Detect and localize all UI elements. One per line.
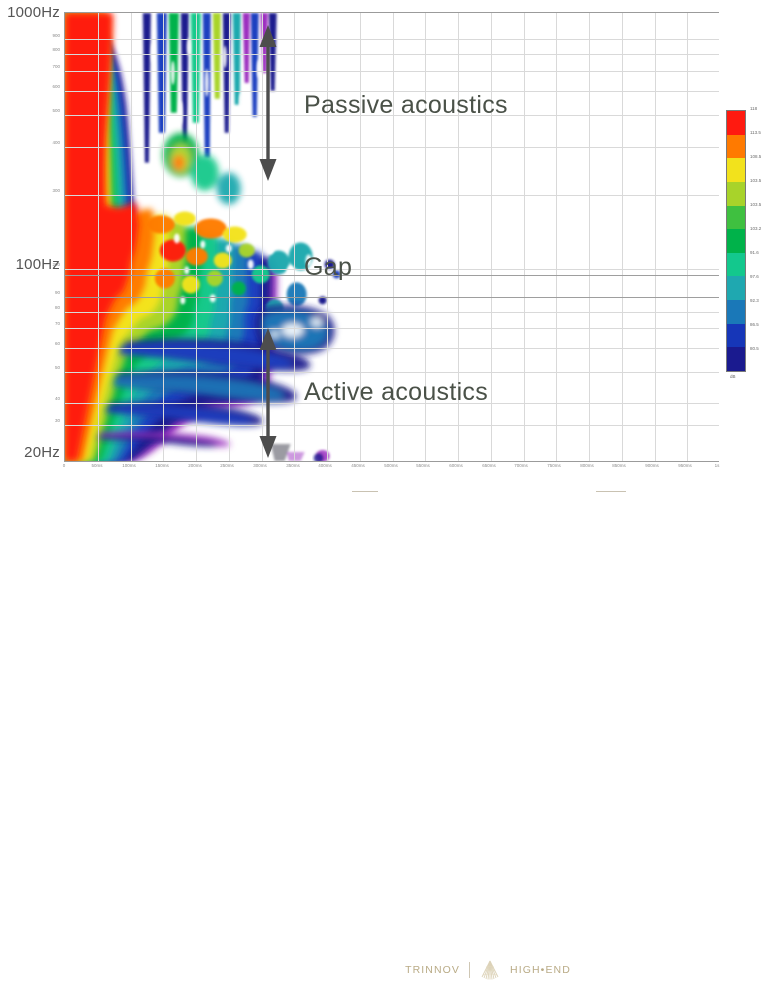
x-tick-800ms: 800ms (572, 463, 602, 468)
y-tick-800: 800 (38, 47, 60, 52)
gridline-v-150ms (163, 13, 164, 461)
gridline-v-800ms (589, 13, 590, 461)
gridline-v-50ms (98, 13, 99, 461)
x-tick-300ms: 300ms (245, 463, 275, 468)
y-tick-80: 80 (38, 305, 60, 310)
colorbar-tick-108-5: 108.5 (750, 154, 761, 159)
colorbar-tick-91-6: 91.6 (750, 250, 759, 255)
y-axis-label-20hz: 20Hz (0, 444, 60, 461)
gridline-h-700 (65, 71, 719, 72)
colorbar-segment-118 (727, 111, 745, 135)
colorbar-segment-97-6 (727, 276, 745, 300)
colorbar-segment-91-6 (727, 253, 745, 277)
screenshot-root: 1000Hz 100Hz 20Hz 900 800 700 600 500 40… (0, 0, 770, 505)
x-tick-500ms: 500ms (376, 463, 406, 468)
y-tick-400: 400 (38, 140, 60, 145)
annotation-passive-acoustics: Passive acoustics (304, 91, 508, 120)
gridline-h-80 (65, 312, 719, 313)
footer: TRINNOV HIGH•END (0, 478, 770, 505)
footer-rule-right (596, 491, 626, 492)
gridline-h-30 (65, 425, 719, 426)
gridline-v-200ms (196, 13, 197, 461)
gridline-v-900ms (655, 13, 656, 461)
gridline-v-250ms (229, 13, 230, 461)
colorbar-tick-97-6: 97.6 (750, 274, 759, 279)
colorbar-tick-113-5: 113.5 (750, 130, 761, 135)
colorbar-tick-92-3: 92.3 (750, 298, 759, 303)
y-tick-70: 70 (38, 321, 60, 326)
x-tick-0: 0 (49, 463, 79, 468)
y-tick-900: 900 (38, 33, 60, 38)
gridline-h-300 (65, 195, 719, 196)
x-tick-450ms: 450ms (343, 463, 373, 468)
colorbar-unit-label: dB (730, 374, 736, 379)
gridline-v-850ms (622, 13, 623, 461)
y-tick-500: 500 (38, 108, 60, 113)
brand-trinnov: TRINNOV (405, 964, 460, 976)
colorbar-tick-103-5: 103.5 (750, 178, 761, 183)
gridline-v-650ms (491, 13, 492, 461)
colorbar-tick-80-5: 80.5 (750, 346, 759, 351)
gridline-v-750ms (556, 13, 557, 461)
gridline-v-700ms (524, 13, 525, 461)
x-tick-100ms: 100ms (114, 463, 144, 468)
colorbar-segment-103-5 (727, 182, 745, 206)
x-tick-700ms: 700ms (506, 463, 536, 468)
gridline-h-800 (65, 54, 719, 55)
colorbar-segment-92-3 (727, 300, 745, 324)
y-axis-label-1000hz: 1000Hz (0, 4, 60, 21)
x-tick-750ms: 750ms (539, 463, 569, 468)
y-tick-300: 300 (38, 188, 60, 193)
colorbar-segment-103-5b (727, 206, 745, 230)
gridline-h-50 (65, 372, 719, 373)
x-tick-600ms: 600ms (441, 463, 471, 468)
gridline-h-60 (65, 348, 719, 349)
x-tick-400ms: 400ms (310, 463, 340, 468)
brand-separator (469, 962, 470, 978)
gridline-h-70 (65, 328, 719, 329)
x-tick-250ms: 250ms (212, 463, 242, 468)
x-tick-1s: 1s (702, 463, 732, 468)
colorbar-segment-113-5 (727, 135, 745, 159)
gridline-v-350ms (294, 13, 295, 461)
colorbar-tick-103-5b: 103.5 (750, 202, 761, 207)
y-tick-600: 600 (38, 84, 60, 89)
x-tick-350ms: 350ms (278, 463, 308, 468)
gridline-h-90 (65, 297, 719, 298)
colorbar-segment-103-2 (727, 229, 745, 253)
active-acoustics-arrow (255, 326, 281, 460)
annotation-active-acoustics: Active acoustics (304, 378, 488, 407)
y-tick-40: 40 (38, 396, 60, 401)
colorbar-segment-80-5 (727, 347, 745, 371)
y-tick-50: 50 (38, 365, 60, 370)
spectrogram-plot[interactable]: Passive acoustics Gap Active acoustics (64, 12, 719, 461)
y-tick-200: 200 (38, 262, 60, 267)
y-tick-60: 60 (38, 341, 60, 346)
gridline-v-950ms (687, 13, 688, 461)
gridline-h-100hz (65, 275, 719, 276)
gridline-v-100ms (131, 13, 132, 461)
gridline-h-200 (65, 269, 719, 270)
x-tick-950ms: 950ms (670, 463, 700, 468)
y-tick-700: 700 (38, 64, 60, 69)
x-tick-850ms: 850ms (604, 463, 634, 468)
brand-high-end: HIGH•END (510, 964, 571, 976)
colorbar-gradient (726, 110, 746, 372)
brand-bar: TRINNOV HIGH•END (378, 959, 598, 981)
x-tick-900ms: 900ms (637, 463, 667, 468)
y-tick-30: 30 (38, 418, 60, 423)
footer-rule-left (352, 491, 378, 492)
annotation-gap: Gap (304, 253, 352, 282)
passive-acoustics-arrow (255, 23, 281, 183)
fan-logo-icon (479, 960, 501, 980)
colorbar-segment-86-5 (727, 324, 745, 348)
gridline-h-900 (65, 39, 719, 40)
x-tick-150ms: 150ms (147, 463, 177, 468)
x-tick-50ms: 50ms (82, 463, 112, 468)
y-tick-90: 90 (38, 290, 60, 295)
x-tick-200ms: 200ms (180, 463, 210, 468)
colorbar-segment-108-5 (727, 158, 745, 182)
x-tick-550ms: 550ms (408, 463, 438, 468)
colorbar-tick-103-2: 103.2 (750, 226, 761, 231)
x-axis-line (64, 461, 719, 462)
x-tick-650ms: 650ms (474, 463, 504, 468)
gridline-h-400 (65, 147, 719, 148)
colorbar-tick-86-5: 86.5 (750, 322, 759, 327)
colorbar-tick-118: 118 (750, 106, 757, 111)
colorbar-legend[interactable]: 118 113.5 108.5 103.5 103.5 103.2 91.6 9… (726, 110, 770, 385)
